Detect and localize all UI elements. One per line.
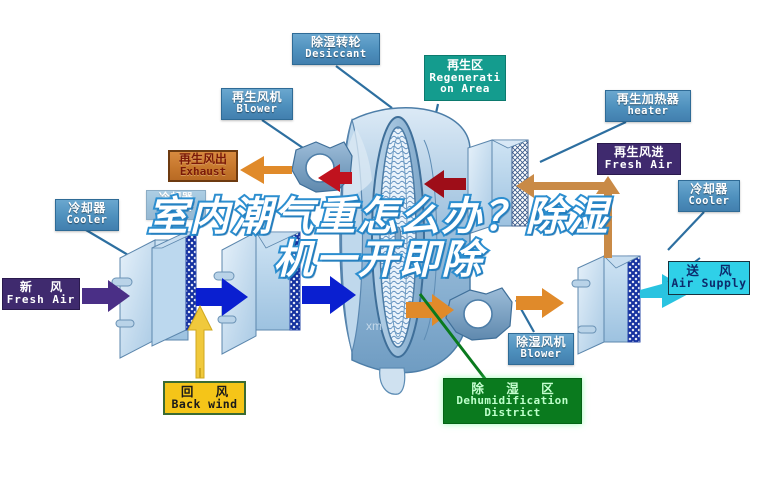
label-exhaust[interactable]: 再生风出 Exhaust xyxy=(168,150,238,182)
headline-overlay: 室内潮气重怎么办？除湿 机一开即除 xyxy=(0,196,757,282)
label-exhaust-cn: 再生风出 xyxy=(170,153,236,166)
diagram-canvas: xm xyxy=(0,0,757,488)
label-dehumidification-blower-en: Blower xyxy=(509,349,573,360)
regeneration-fan xyxy=(292,142,352,192)
label-exhaust-en: Exhaust xyxy=(170,166,236,178)
label-regeneration-blower[interactable]: 再生风机 Blower xyxy=(221,88,293,120)
label-regeneration-blower-en: Blower xyxy=(222,104,292,115)
label-regeneration-area-cn: 再生区 xyxy=(425,59,505,72)
label-fresh-air[interactable]: 新 风 Fresh Air xyxy=(2,278,80,310)
label-regeneration-fresh-air[interactable]: 再生风进 Fresh Air xyxy=(597,143,681,175)
label-regeneration-area[interactable]: 再生区 Regenerati on Area xyxy=(424,55,506,101)
label-regeneration-heater[interactable]: 再生加热器 heater xyxy=(605,90,691,122)
label-regeneration-heater-en: heater xyxy=(606,106,690,117)
label-dehumidification-district[interactable]: 除 湿 区 Dehumidification District xyxy=(443,378,582,424)
label-cooler-right-cn: 冷却器 xyxy=(679,183,739,196)
label-fresh-air-cn: 新 风 xyxy=(3,281,79,294)
label-regeneration-fresh-air-en: Fresh Air xyxy=(598,159,680,171)
label-dehumidification-blower-cn: 除湿风机 xyxy=(509,336,573,349)
arrow-exhaust-out xyxy=(240,156,292,184)
label-back-wind[interactable]: 回 风 Back wind xyxy=(163,381,246,415)
label-desiccant-cn: 除湿转轮 xyxy=(293,36,379,49)
label-dehumidification-district-en: Dehumidification District xyxy=(444,395,581,418)
svg-text:xm: xm xyxy=(366,319,382,333)
label-desiccant[interactable]: 除湿转轮 Desiccant xyxy=(292,33,380,65)
headline-line-1: 室内潮气重怎么办？除湿 xyxy=(148,194,610,240)
label-back-wind-en: Back wind xyxy=(165,398,244,410)
label-regeneration-blower-cn: 再生风机 xyxy=(222,91,292,104)
label-fresh-air-en: Fresh Air xyxy=(3,294,79,306)
label-regeneration-area-en: Regenerati on Area xyxy=(425,72,505,95)
label-dehumidification-blower[interactable]: 除湿风机 Blower xyxy=(508,333,574,365)
label-regeneration-fresh-air-cn: 再生风进 xyxy=(598,146,680,159)
label-regeneration-heater-cn: 再生加热器 xyxy=(606,93,690,106)
label-desiccant-en: Desiccant xyxy=(293,49,379,60)
headline-line-2: 机一开即除 xyxy=(0,239,757,282)
